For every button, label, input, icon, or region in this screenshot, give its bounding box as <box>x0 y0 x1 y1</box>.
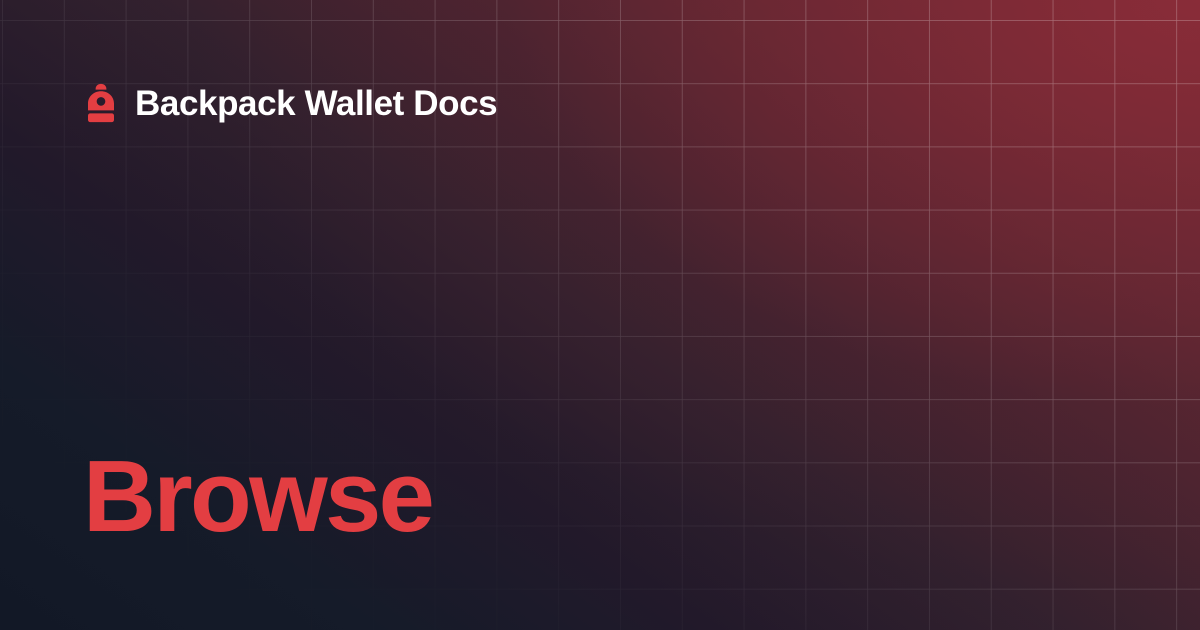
brand-name: Backpack Wallet Docs <box>135 86 497 121</box>
og-card: Backpack Wallet Docs Browse <box>0 0 1200 630</box>
page-title: Browse <box>83 447 432 548</box>
card-content: Backpack Wallet Docs Browse <box>0 0 1200 630</box>
brand-header: Backpack Wallet Docs <box>85 80 497 126</box>
backpack-icon <box>85 83 117 123</box>
